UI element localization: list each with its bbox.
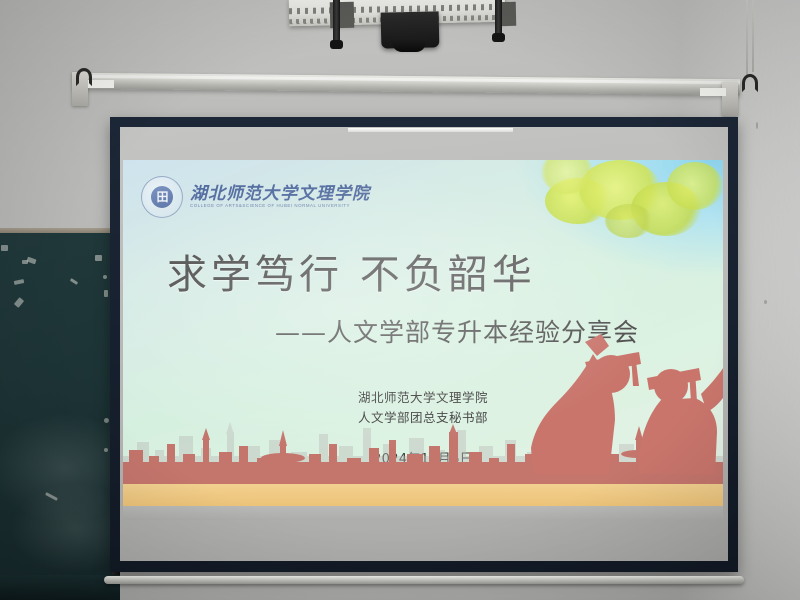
chalk-mark bbox=[103, 275, 107, 279]
graduate-silhouettes bbox=[489, 324, 723, 474]
screen-bracket-tab bbox=[700, 88, 726, 96]
chalk-mark bbox=[1, 245, 8, 251]
university-name-cn: 湖北师范大学文理学院 bbox=[190, 186, 370, 203]
chalk-mark bbox=[22, 260, 28, 264]
university-logo: 田 湖北师范大学文理学院 COLLEGE OF ARTS&SCIENCE OF … bbox=[141, 176, 370, 218]
chalk-mark bbox=[104, 290, 108, 297]
wall-speck bbox=[764, 300, 767, 304]
projector-rod bbox=[333, 0, 340, 42]
screen-weight-bar[interactable] bbox=[104, 576, 744, 584]
projector-rod-cap bbox=[330, 40, 343, 49]
university-name-en: COLLEGE OF ARTS&SCIENCE OF HUBEI NORMAL … bbox=[190, 204, 370, 208]
slide-main-title: 求学笃行 不负韶华 bbox=[167, 242, 536, 300]
blackboard bbox=[0, 233, 118, 600]
screen-hook-icon bbox=[742, 74, 758, 92]
slide-bottom-band bbox=[123, 506, 723, 520]
screen-hook-icon bbox=[76, 68, 92, 86]
chalk-mark bbox=[70, 278, 78, 285]
blackboard-bottom-rail bbox=[0, 575, 120, 600]
seal-glyph: 田 bbox=[156, 191, 167, 203]
seal-inner-emblem: 田 bbox=[151, 186, 173, 208]
wall-speck bbox=[756, 122, 758, 129]
chalk-mark bbox=[104, 418, 109, 423]
projected-slide: 田 湖北师范大学文理学院 COLLEGE OF ARTS&SCIENCE OF … bbox=[123, 160, 723, 520]
foliage-decoration bbox=[535, 160, 715, 262]
chalk-mark bbox=[104, 448, 108, 452]
projector-rod-cap bbox=[492, 33, 505, 42]
screen-top-light-streak bbox=[348, 128, 513, 132]
university-seal-icon: 田 bbox=[141, 176, 183, 218]
chalk-mark bbox=[95, 255, 102, 261]
chalk-mark bbox=[14, 279, 25, 285]
classroom-scene: 田 湖北师范大学文理学院 COLLEGE OF ARTS&SCIENCE OF … bbox=[0, 0, 800, 600]
projector-lens-front bbox=[392, 38, 426, 52]
chalk-mark bbox=[14, 297, 24, 308]
projector-rod bbox=[495, 0, 502, 34]
hanging-wire bbox=[752, 0, 754, 72]
slide-gold-band bbox=[123, 484, 723, 506]
hanging-wire bbox=[746, 0, 748, 78]
